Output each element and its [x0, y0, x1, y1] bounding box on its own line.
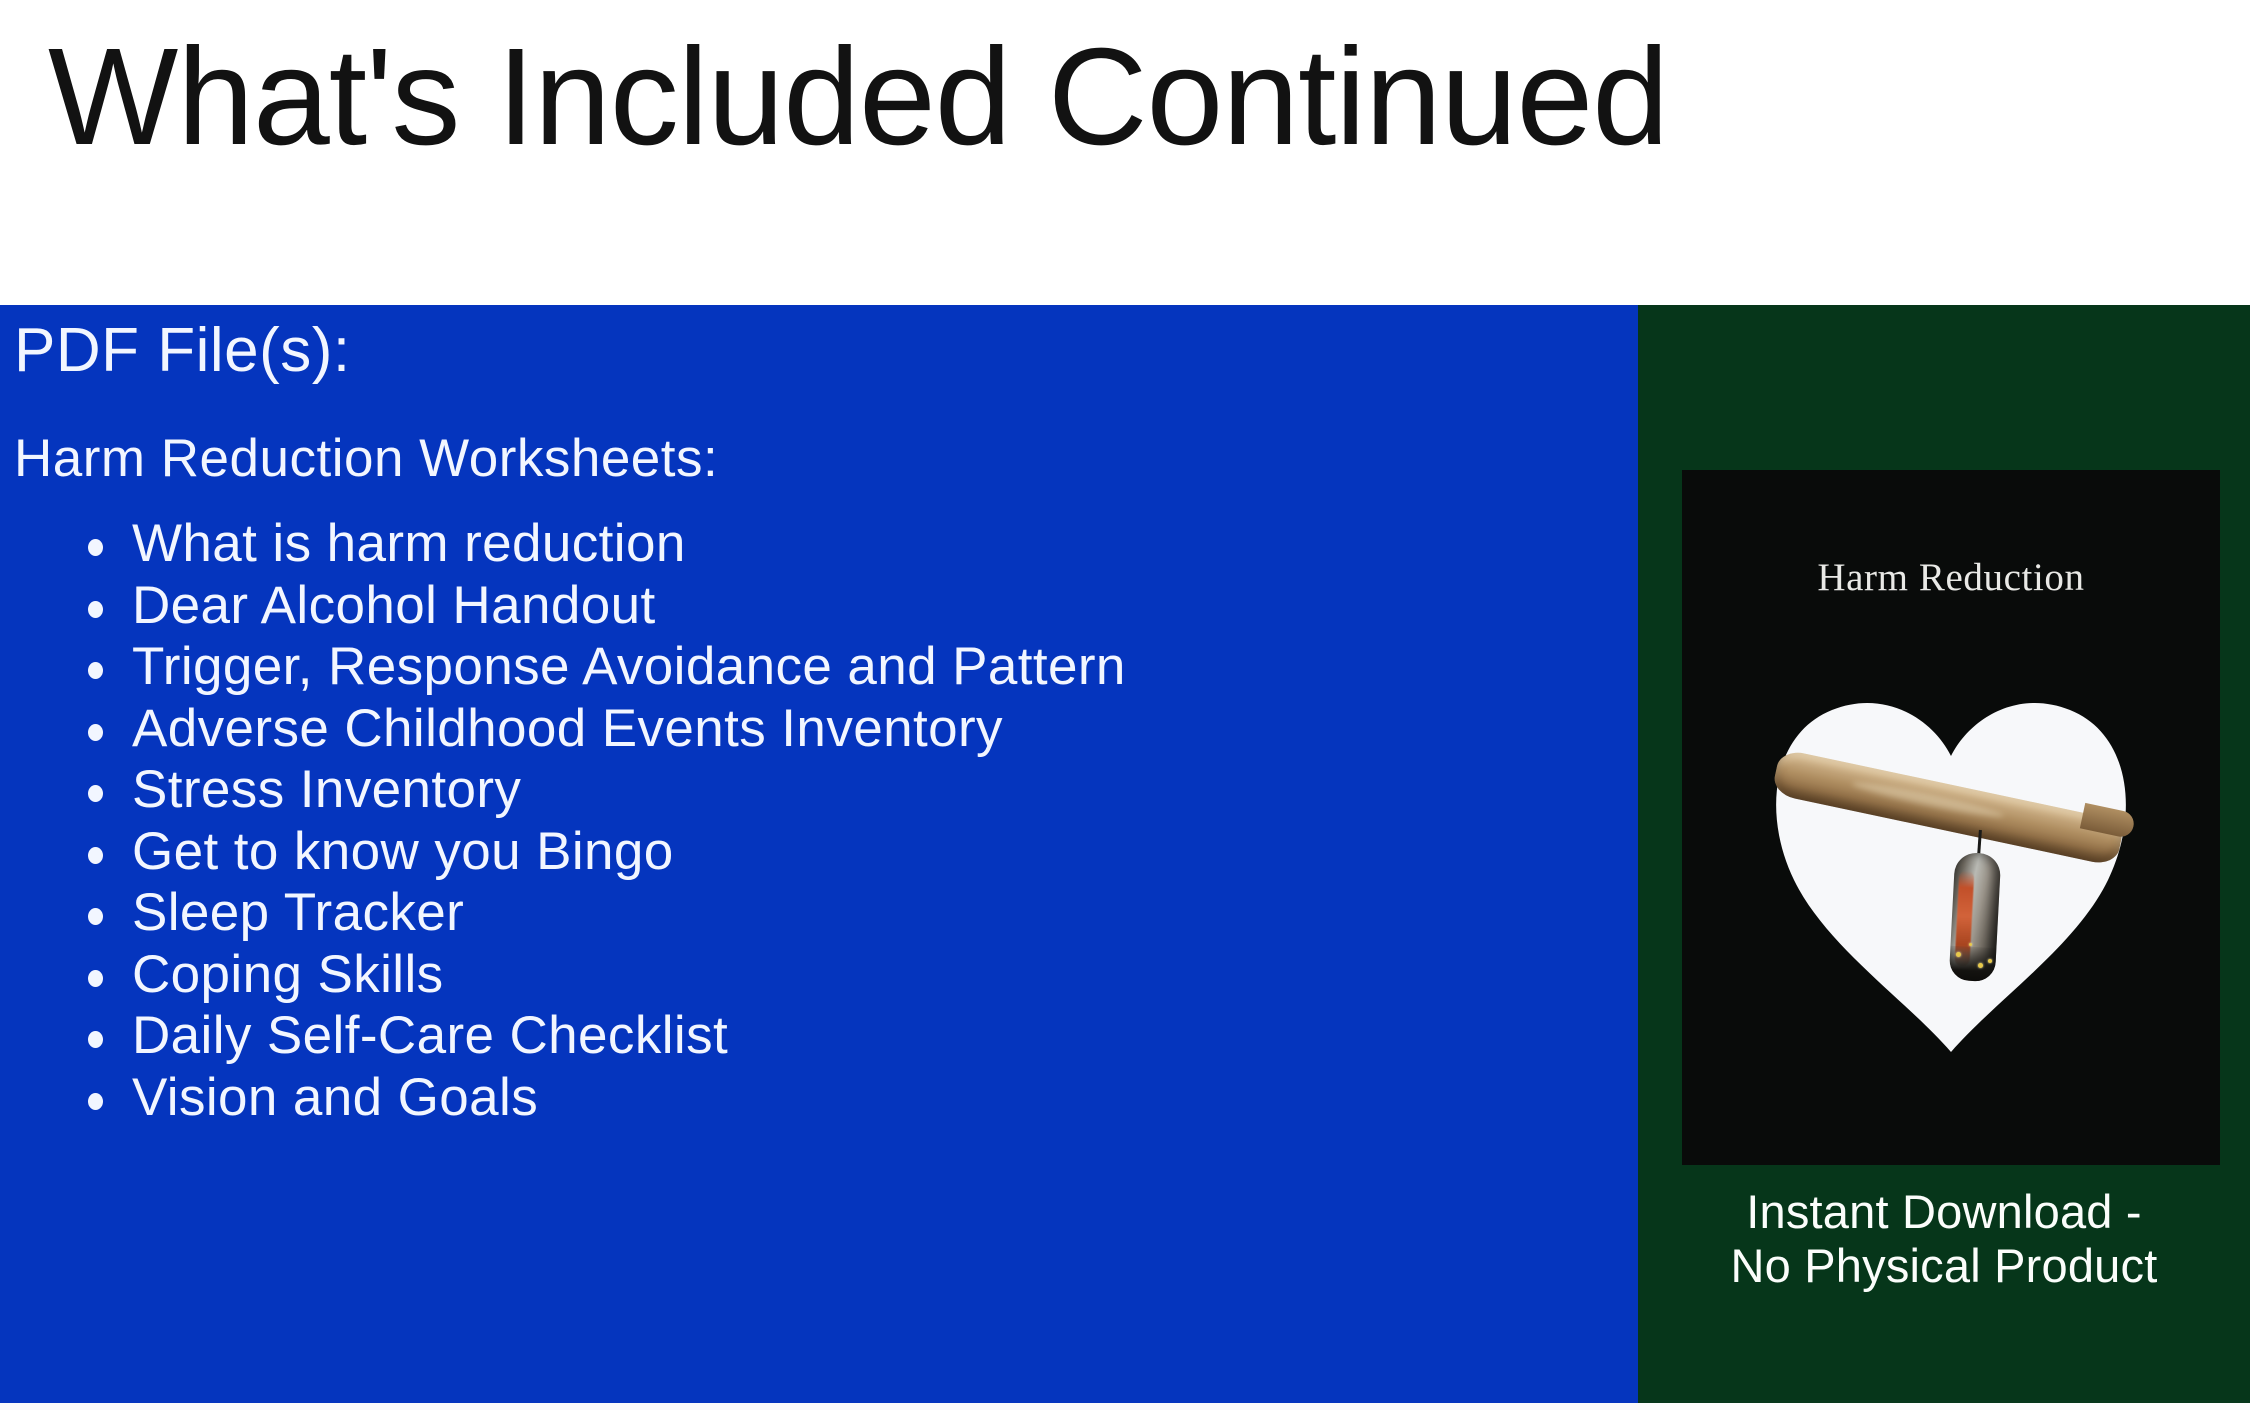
product-cover-title: Harm Reduction	[1682, 555, 2220, 600]
pdf-files-heading: PDF File(s):	[14, 315, 351, 386]
bottom-white-strip	[0, 1403, 2250, 1410]
product-preview-panel: Harm Reduction Instant Download - No Phy…	[1638, 305, 2250, 1403]
gold-speck	[1969, 943, 1972, 946]
gold-speck	[1978, 963, 1983, 968]
list-item: Coping Skills	[132, 944, 1126, 1006]
page-title: What's Included Continued	[48, 28, 1668, 166]
list-item: Trigger, Response Avoidance and Pattern	[132, 636, 1126, 698]
pdf-files-panel: PDF File(s): Harm Reduction Worksheets: …	[0, 305, 1638, 1403]
slide-header: What's Included Continued	[0, 0, 2250, 305]
worksheet-list: What is harm reduction Dear Alcohol Hand…	[60, 513, 1126, 1128]
list-item: What is harm reduction	[132, 513, 1126, 575]
heart-artwork	[1766, 660, 2136, 1060]
list-item: Get to know you Bingo	[132, 821, 1126, 883]
list-item: Vision and Goals	[132, 1067, 1126, 1129]
list-item: Adverse Childhood Events Inventory	[132, 698, 1126, 760]
gold-speck	[1956, 952, 1961, 957]
heart-shape-icon	[1766, 660, 2136, 1060]
product-cover-card: Harm Reduction	[1682, 470, 2220, 1165]
instant-download-line-1: Instant Download -	[1638, 1185, 2250, 1239]
list-item: Sleep Tracker	[132, 882, 1126, 944]
gold-speck	[1988, 959, 1992, 963]
list-item: Daily Self-Care Checklist	[132, 1005, 1126, 1067]
list-item: Dear Alcohol Handout	[132, 575, 1126, 637]
slide-root: What's Included Continued PDF File(s): H…	[0, 0, 2250, 1410]
harm-reduction-worksheets-subheading: Harm Reduction Worksheets:	[14, 428, 718, 489]
instant-download-note: Instant Download - No Physical Product	[1638, 1185, 2250, 1292]
instant-download-line-2: No Physical Product	[1638, 1239, 2250, 1293]
list-item: Stress Inventory	[132, 759, 1126, 821]
chrysalis-element	[1949, 852, 2002, 982]
